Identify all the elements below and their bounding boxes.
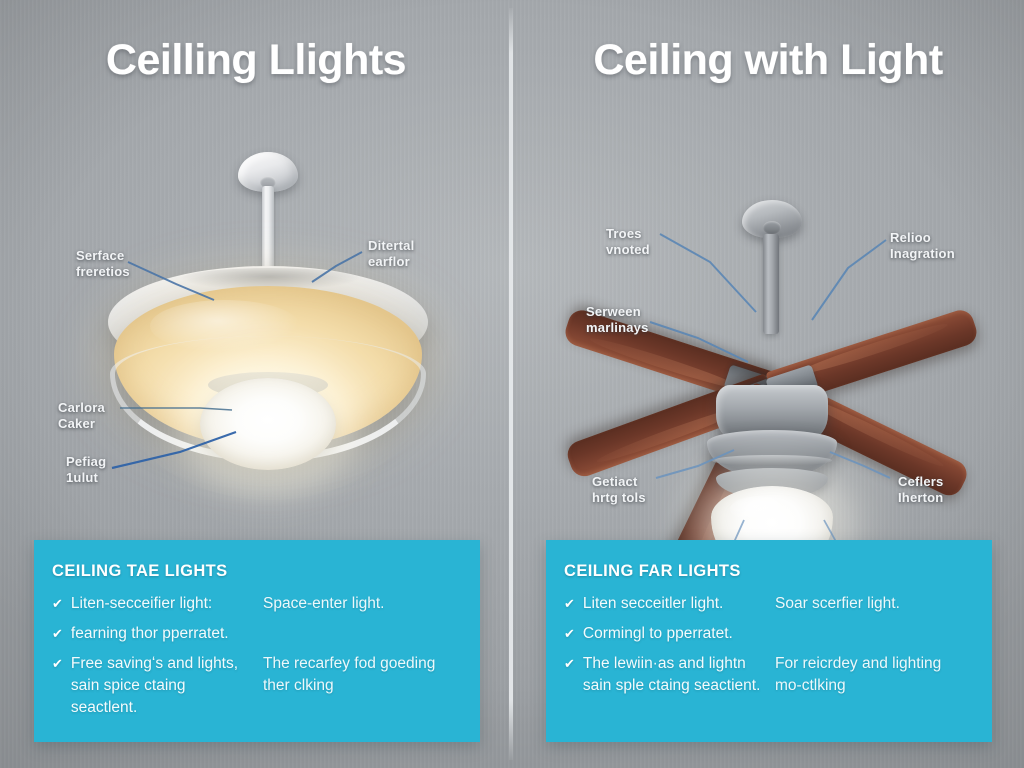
feature-text: Liten-secceifier light:: [71, 593, 249, 615]
fan-dome-highlight: [730, 496, 788, 522]
label-diffuser-edge: Ditertal earflor: [368, 238, 414, 270]
label-line-2: hrtg tols: [592, 490, 646, 506]
ceiling-canopy-right: [742, 200, 802, 238]
feature-item: ✔ Free savingʻs and lights, sain spice c…: [52, 653, 249, 719]
check-icon: ✔: [52, 653, 63, 675]
infobox-ceiling-light: CEILING TAE LIGHTS ✔ Liten-secceifier li…: [34, 540, 480, 742]
check-icon: ✔: [564, 593, 575, 615]
label-line-1: Relioo: [890, 230, 955, 246]
label-line-2: Inagration: [890, 246, 955, 262]
fan-motor-band: [712, 455, 832, 466]
label-line-2: Iherton: [898, 490, 943, 506]
feature-text: Free savingʻs and lights, sain spice cta…: [71, 653, 249, 719]
infobox-heading-left: CEILING TAE LIGHTS: [52, 562, 460, 581]
feature-item-spacer: [263, 623, 460, 645]
label-blade-type: Troes vnoted: [606, 226, 650, 258]
check-icon: ✔: [564, 653, 575, 675]
label-line-1: Carlora: [58, 400, 105, 416]
label-line-1: Troes: [606, 226, 650, 242]
label-line-1: Ditertal: [368, 238, 414, 254]
check-icon: ✔: [564, 623, 575, 645]
label-light-kit: Getiact hrtg tols: [592, 474, 646, 506]
label-line-1: Serface: [76, 248, 130, 264]
feature-text: For reicrdey and lighting mo-ctlking: [775, 653, 972, 697]
feature-item: For reicrdey and lighting mo-ctlking: [775, 653, 972, 697]
feature-text: Soar scerfier light.: [775, 593, 972, 615]
label-control-option: Ceflers Iherton: [898, 474, 943, 506]
feature-text: Space-enter light.: [263, 593, 460, 615]
downrod-right: [763, 234, 779, 334]
label-surface-finish: Serface freretios: [76, 248, 130, 280]
feature-item: ✔ Liten-secceifier light:: [52, 593, 249, 615]
check-icon: ✔: [52, 593, 63, 615]
comparison-infographic: Ceilling Llights Serface freretios: [0, 0, 1024, 768]
feature-item: Soar scerfier light.: [775, 593, 972, 615]
feature-text: Cormingl to pperratet.: [583, 623, 761, 645]
infobox-column-left: ✔ Liten-secceifier light: ✔ fearning tho…: [52, 593, 249, 727]
check-icon: ✔: [52, 623, 63, 645]
feature-text: The recarfey fod goeding ther clking: [263, 653, 460, 697]
infobox-column-left: ✔ Liten secceitler light. ✔ Cormingl to …: [564, 593, 761, 705]
infobox-column-right: Soar scerfier light. For reicrdey and li…: [775, 593, 972, 705]
feature-item: ✔ fearning thor pperratet.: [52, 623, 249, 645]
label-line-1: Getiact: [592, 474, 646, 490]
feature-item: ✔ Liten secceitler light.: [564, 593, 761, 615]
label-line-2: 1ulut: [66, 470, 106, 486]
page-title-left: Ceilling Llights: [0, 36, 512, 85]
feature-item-spacer: [775, 623, 972, 645]
canopy-screw-detail-right: [763, 221, 781, 234]
feature-text: Liten secceitler light.: [583, 593, 761, 615]
label-line-1: Ceflers: [898, 474, 943, 490]
label-line-1: Pefiag: [66, 454, 106, 470]
label-motor-integration: Relioo Inagration: [890, 230, 955, 262]
feature-text: The lewiin·as and lightn sain sple ctain…: [583, 653, 761, 697]
feature-item: ✔ Cormingl to pperratet.: [564, 623, 761, 645]
label-line-2: Caker: [58, 416, 105, 432]
feature-item: ✔ The lewiin·as and lightn sain sple cta…: [564, 653, 761, 697]
label-diffuser-cover: Carlora Caker: [58, 400, 105, 432]
center-lamp-dome-left: [200, 378, 336, 470]
label-line-1: Serween: [586, 304, 649, 320]
page-title-right: Ceiling with Light: [512, 36, 1024, 85]
label-line-2: vnoted: [606, 242, 650, 258]
infobox-heading-right: CEILING FAR LIGHTS: [564, 562, 972, 581]
infobox-grid-left: ✔ Liten-secceifier light: ✔ fearning tho…: [52, 593, 460, 727]
panel-divider: [509, 8, 513, 760]
label-light-output: Pefiag 1ulut: [66, 454, 106, 486]
infobox-ceiling-fan: CEILING FAR LIGHTS ✔ Liten secceitler li…: [546, 540, 992, 742]
feature-item: The recarfey fod goeding ther clking: [263, 653, 460, 697]
infobox-grid-right: ✔ Liten secceitler light. ✔ Cormingl to …: [564, 593, 972, 705]
label-line-2: freretios: [76, 264, 130, 280]
feature-item: Space-enter light.: [263, 593, 460, 615]
infobox-column-right: Space-enter light. The recarfey fod goed…: [263, 593, 460, 727]
feature-text: fearning thor pperratet.: [71, 623, 249, 645]
label-line-2: marlinays: [586, 320, 649, 336]
label-line-2: earflor: [368, 254, 414, 270]
label-blade-mounting: Serween marlinays: [586, 304, 649, 336]
